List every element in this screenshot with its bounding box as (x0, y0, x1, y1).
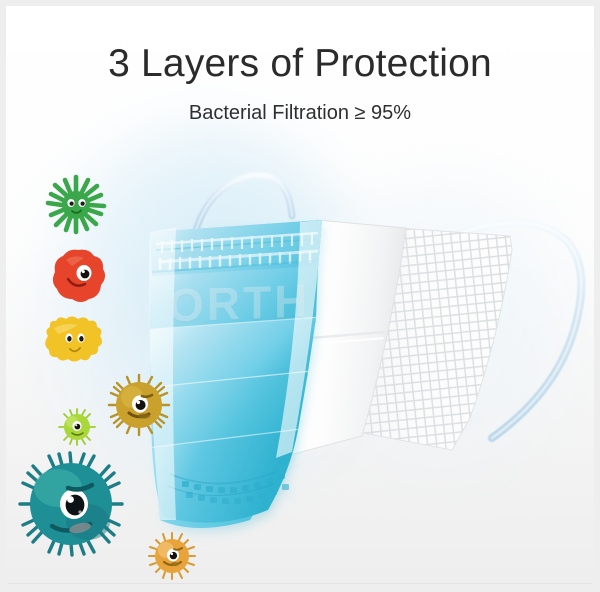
germ-red-blob (48, 246, 108, 306)
germ-teal-big (18, 452, 124, 556)
germ-green-star (44, 172, 108, 236)
page-subtitle: Bacterial Filtration ≥ 95% (0, 102, 600, 125)
germ-orange-small (148, 532, 196, 580)
germ-yellow-bumpy (40, 312, 106, 368)
page-title: 3 Layers of Protection (0, 43, 600, 85)
germ-gold-fuzz (108, 374, 170, 436)
germ-lime-small (58, 408, 96, 446)
earloop-left (196, 175, 292, 230)
product-image-canvas: ORTH (0, 0, 600, 592)
